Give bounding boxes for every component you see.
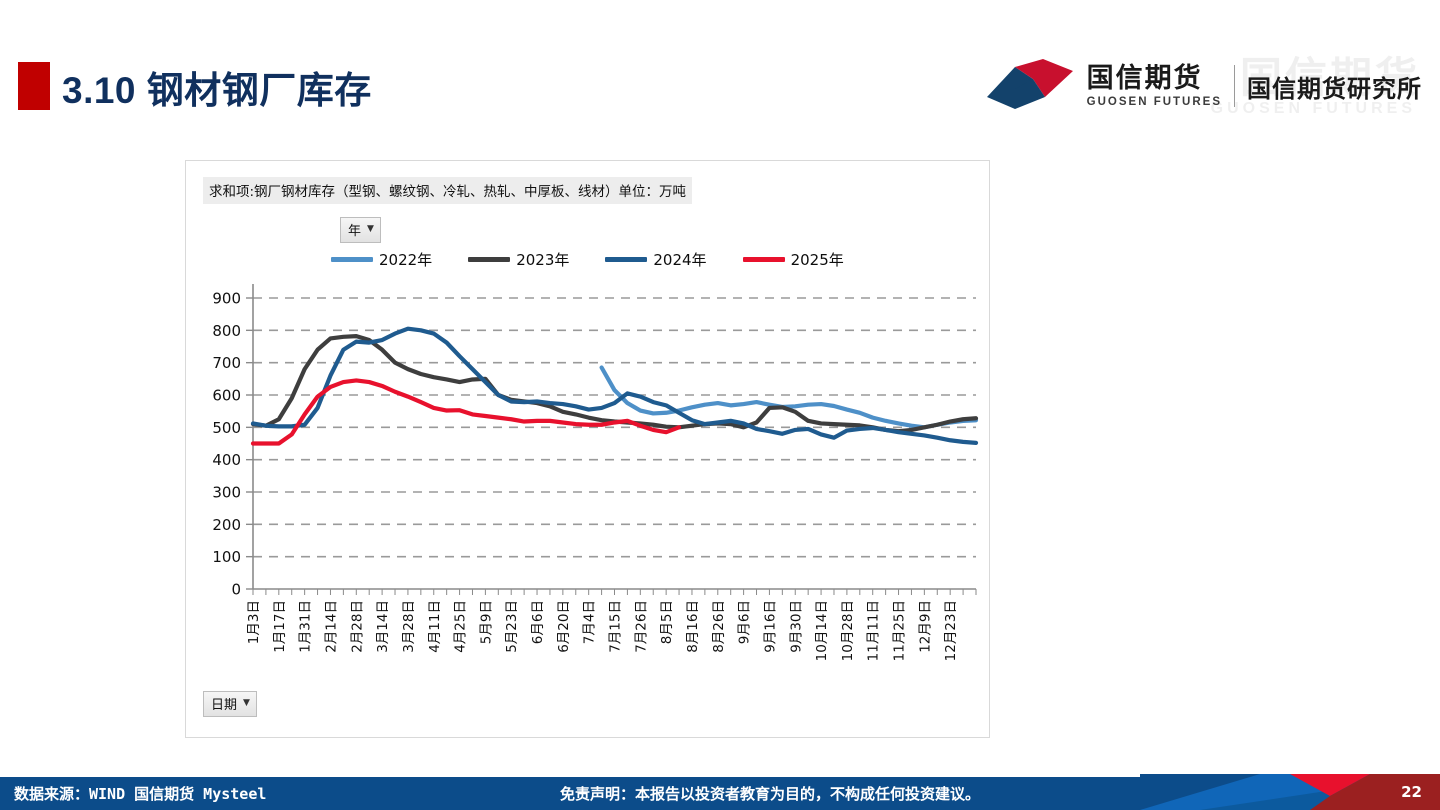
title-accent-bar	[18, 62, 50, 110]
x-axis-label: 11月25日	[892, 600, 908, 661]
x-axis-label: 9月6日	[737, 600, 753, 644]
y-axis-label: 300	[212, 484, 241, 502]
x-axis-label: 7月4日	[582, 600, 598, 644]
legend-item-2024年[interactable]: 2024年	[605, 249, 706, 270]
logo-text: 国信期货 GUOSEN FUTURES	[1087, 64, 1222, 107]
y-axis-label: 800	[212, 322, 241, 340]
company-logo: 国信期货 GUOSEN FUTURES 国信期货研究所	[985, 52, 1422, 120]
x-axis-label: 10月28日	[840, 600, 856, 661]
x-axis-label: 5月23日	[504, 600, 520, 653]
page-footer: 数据来源：WIND 国信期货 Mysteel 免责声明：本报告以投资者教育为目的…	[0, 774, 1440, 810]
x-axis-label: 7月15日	[608, 600, 624, 653]
chevron-down-icon: ▼	[367, 225, 374, 234]
page-title: 3.10 钢材钢厂库存	[62, 60, 372, 114]
chart-title: 求和项:钢厂钢材库存（型钢、螺纹钢、冷轧、热轧、中厚板、线材）单位：万吨	[203, 177, 692, 204]
x-axis-label: 11月11日	[866, 600, 882, 661]
x-axis-label: 2月28日	[349, 600, 365, 653]
date-filter-button[interactable]: 日期 ▼	[203, 691, 257, 717]
x-axis-label: 6月20日	[556, 600, 572, 653]
legend-label: 2022年	[379, 249, 432, 270]
logo-divider	[1234, 65, 1235, 107]
y-axis-label: 500	[212, 419, 241, 437]
legend-label: 2025年	[791, 249, 844, 270]
chevron-down-icon: ▼	[243, 699, 250, 708]
x-axis-label: 8月16日	[685, 600, 701, 653]
page-number: 22	[1401, 783, 1422, 801]
x-axis-label: 3月28日	[401, 600, 417, 653]
legend-item-2022年[interactable]: 2022年	[331, 249, 432, 270]
y-axis-label: 400	[212, 451, 241, 469]
y-axis-label: 700	[212, 354, 241, 372]
x-axis-label: 1月3日	[246, 600, 262, 644]
footer-decoration	[1140, 774, 1440, 810]
year-filter-button[interactable]: 年 ▼	[340, 217, 381, 243]
x-axis-label: 8月26日	[711, 600, 727, 653]
chart-panel: 求和项:钢厂钢材库存（型钢、螺纹钢、冷轧、热轧、中厚板、线材）单位：万吨 年 ▼…	[185, 160, 990, 738]
x-axis-label: 1月31日	[298, 600, 314, 653]
y-axis-label: 0	[231, 581, 241, 599]
x-axis-label: 8月5日	[659, 600, 675, 644]
x-axis-label: 12月9日	[917, 600, 933, 653]
legend-swatch-icon	[743, 257, 785, 262]
x-axis-label: 1月17日	[272, 600, 288, 653]
y-axis-label: 200	[212, 516, 241, 534]
chart-plot-area: 01002003004005006007008009001月3日1月17日1月3…	[186, 281, 991, 701]
legend-item-2023年[interactable]: 2023年	[468, 249, 569, 270]
x-axis-label: 2月14日	[323, 600, 339, 653]
legend-item-2025年[interactable]: 2025年	[743, 249, 844, 270]
date-filter-label: 日期	[211, 694, 237, 713]
x-axis-label: 5月9日	[478, 600, 494, 644]
legend-label: 2024年	[653, 249, 706, 270]
y-axis-label: 100	[212, 548, 241, 566]
logo-brand-cn: 国信期货	[1087, 64, 1222, 92]
year-filter-label: 年	[348, 220, 361, 239]
x-axis-label: 7月26日	[633, 600, 649, 653]
x-axis-label: 6月6日	[530, 600, 546, 644]
x-axis-label: 4月25日	[453, 600, 469, 653]
series-line-2022年	[602, 368, 976, 428]
page-header: 3.10 钢材钢厂库存 国信期货 GUOSEN FUTURES 国信期货 GUO…	[0, 0, 1440, 150]
logo-brand-en: GUOSEN FUTURES	[1087, 96, 1222, 108]
footer-disclaimer: 免责声明：本报告以投资者教育为目的，不构成任何投资建议。	[560, 783, 980, 804]
legend-swatch-icon	[605, 257, 647, 262]
x-axis-label: 3月14日	[375, 600, 391, 653]
legend-label: 2023年	[516, 249, 569, 270]
x-axis-label: 12月23日	[943, 600, 959, 661]
legend-swatch-icon	[331, 257, 373, 262]
legend-swatch-icon	[468, 257, 510, 262]
x-axis-label: 10月14日	[814, 600, 830, 661]
footer-source: 数据来源：WIND 国信期货 Mysteel	[14, 783, 266, 804]
y-axis-label: 600	[212, 387, 241, 405]
guosen-logo-icon	[985, 57, 1077, 115]
x-axis-label: 9月16日	[762, 600, 778, 653]
x-axis-label: 4月11日	[427, 600, 443, 653]
x-axis-label: 9月30日	[788, 600, 804, 653]
logo-institute: 国信期货研究所	[1247, 69, 1422, 104]
chart-legend: 2022年2023年2024年2025年	[331, 249, 961, 270]
y-axis-label: 900	[212, 290, 241, 308]
